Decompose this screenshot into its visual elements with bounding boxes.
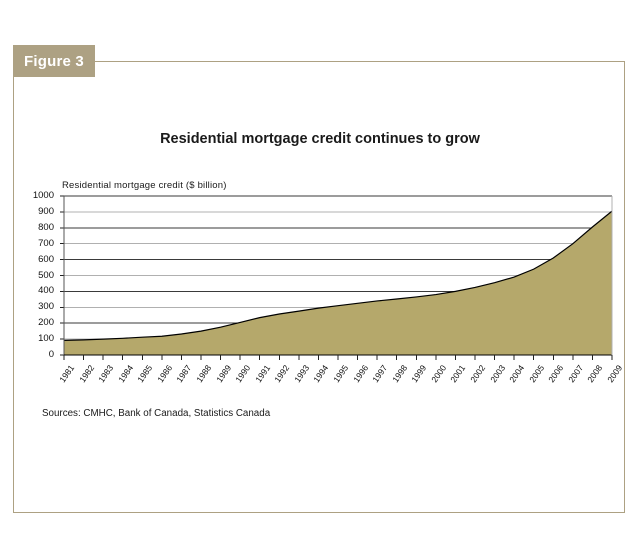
sources-note: Sources: CMHC, Bank of Canada, Statistic… [42, 408, 270, 419]
chart-title: Residential mortgage credit continues to… [0, 131, 640, 147]
y-tick-label: 600 [18, 254, 54, 265]
y-tick-label: 100 [18, 333, 54, 344]
y-tick-label: 1000 [18, 190, 54, 201]
figure-panel [13, 61, 625, 513]
figure-banner: Figure 3 [13, 45, 95, 77]
y-axis-title: Residential mortgage credit ($ billion) [62, 180, 227, 191]
figure-banner-label: Figure 3 [24, 53, 84, 70]
y-tick-label: 700 [18, 238, 54, 249]
y-tick-label: 800 [18, 222, 54, 233]
y-tick-label: 400 [18, 285, 54, 296]
y-tick-label: 900 [18, 206, 54, 217]
y-tick-label: 500 [18, 270, 54, 281]
y-tick-label: 300 [18, 301, 54, 312]
y-tick-label: 0 [18, 349, 54, 360]
y-tick-label: 200 [18, 317, 54, 328]
